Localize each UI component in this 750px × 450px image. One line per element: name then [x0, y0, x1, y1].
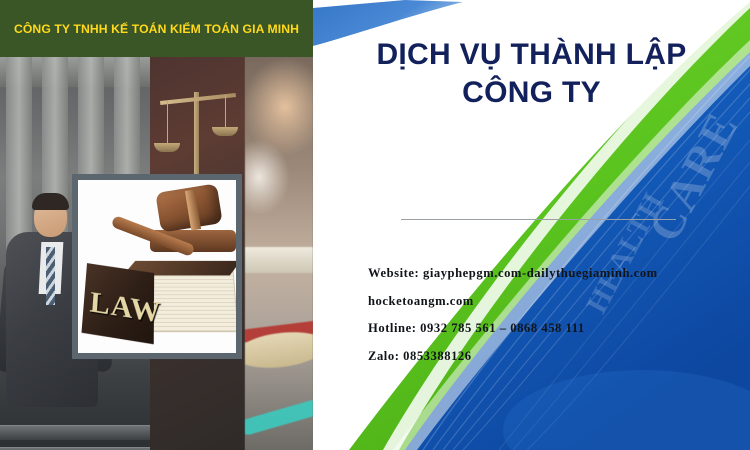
- contact-zalo[interactable]: Zalo: 0853388126: [368, 349, 748, 364]
- title-divider: [401, 219, 676, 220]
- scales-pan: [154, 143, 180, 152]
- open-book-blur: [245, 247, 313, 273]
- contact-website-secondary[interactable]: hocketoangm.com: [368, 294, 748, 309]
- scales-pan: [212, 127, 238, 136]
- stair-step: [0, 425, 150, 440]
- teal-accent: [245, 397, 313, 436]
- businessman-hair: [32, 193, 69, 210]
- title-line-1: DỊCH VỤ THÀNH LẬP: [313, 36, 750, 74]
- courthouse-pillar: [6, 57, 32, 257]
- law-book-label: LAW: [89, 286, 162, 331]
- scales-string: [225, 95, 226, 129]
- contact-hotline[interactable]: Hotline: 0932 785 561 – 0868 458 111: [368, 321, 748, 336]
- photo-blurred-people-office: [245, 57, 313, 450]
- contact-website[interactable]: Website: giayphepgm.com-dailythuegiaminh…: [368, 266, 748, 281]
- page-title: DỊCH VỤ THÀNH LẬP CÔNG TY: [313, 36, 750, 111]
- company-name-text: CÔNG TY TNHH KẾ TOÁN KIỂM TOÁN GIA MINH: [14, 22, 299, 36]
- law-book: LAW: [81, 264, 239, 340]
- title-line-2: CÔNG TY: [313, 74, 750, 112]
- company-name-bar: CÔNG TY TNHH KẾ TOÁN KIỂM TOÁN GIA MINH: [0, 0, 313, 57]
- contact-info-block: Website: giayphepgm.com-dailythuegiaminh…: [368, 266, 748, 376]
- law-book-spine: LAW: [81, 263, 154, 344]
- photo-collage: LAW CÔNG TY TNHH KẾ TOÁN KIỂM TOÁN GIA M…: [0, 0, 313, 450]
- businessman-tie: [46, 247, 55, 305]
- photo-gavel-on-law-book: LAW: [72, 174, 242, 359]
- poster-canvas: LAW CÔNG TY TNHH KẾ TOÁN KIỂM TOÁN GIA M…: [0, 0, 750, 450]
- gavel-icon: [104, 186, 242, 270]
- scales-string: [167, 101, 168, 145]
- right-content-panel: CARE HEALTH DỊCH VỤ THÀNH LẬP CÔNG TY We…: [313, 0, 750, 450]
